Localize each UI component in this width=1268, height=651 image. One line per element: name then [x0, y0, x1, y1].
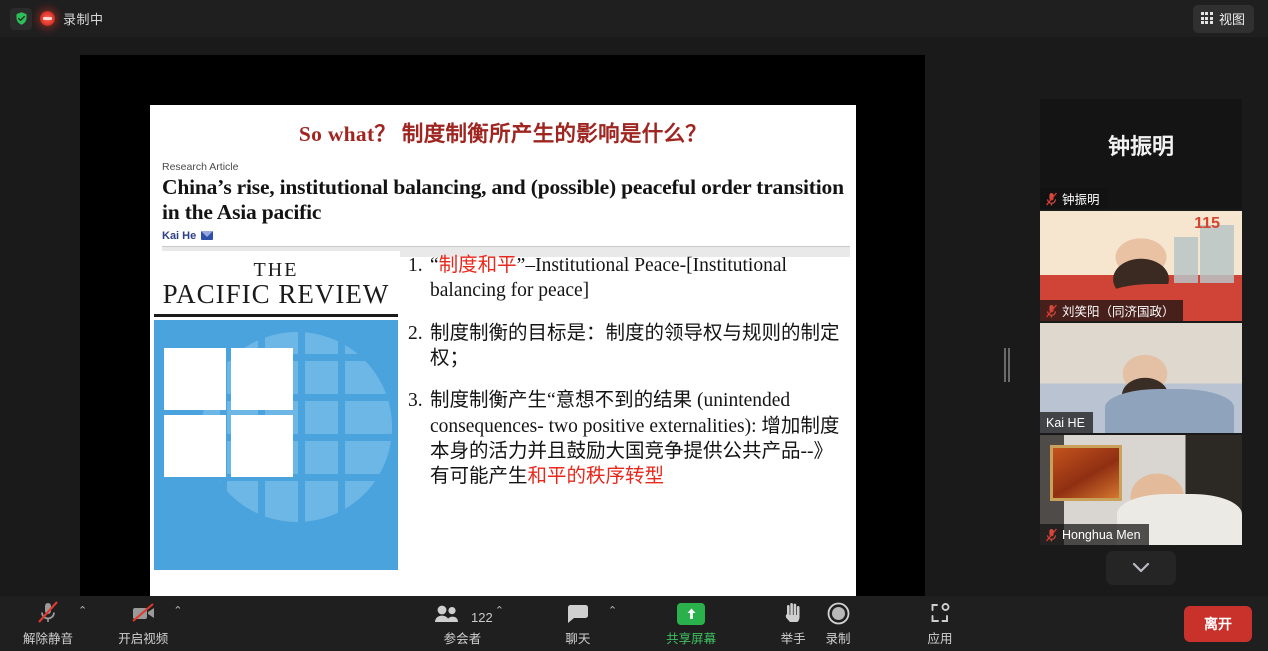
slide-bullet-number: 3. [408, 388, 430, 489]
participants-count: 122 [471, 610, 493, 625]
apps-icon [928, 601, 952, 625]
slide-bullet-segment: “ [430, 255, 439, 276]
meeting-toolbar: 解除静音 ⌃ 开启视频 ⌃ [0, 596, 1268, 651]
slide-bullet-segment: 制度和平 [439, 255, 517, 276]
participants-strip: 钟振明钟振明115刘笑阳（同济国政）Kai HEHonghua Men [1040, 99, 1242, 585]
start-video-button[interactable]: 开启视频 [115, 596, 171, 651]
start-video-label: 开启视频 [118, 628, 168, 647]
meeting-stage: So what？ 制度制衡所产生的影响是什么？ Research Article… [0, 37, 1268, 596]
record-label: 录制 [825, 628, 850, 647]
raise-hand-label: 举手 [781, 628, 806, 647]
map-panel-south-america [231, 415, 293, 477]
participant-torso [1105, 389, 1234, 433]
participants-icon: 122 [432, 601, 493, 625]
slide-bullet-segment: 制度制衡的目标是：制度的领导权与规则的制定权； [430, 323, 840, 369]
map-panel-north-america [231, 348, 293, 410]
participant-tile[interactable]: 钟振明钟振明 [1040, 99, 1242, 209]
recording-label: 录制中 [63, 9, 104, 28]
video-off-icon [129, 601, 157, 625]
article-title: China’s rise, institutional balancing, a… [162, 175, 850, 226]
participants-chevron-up-icon[interactable]: ⌃ [495, 604, 504, 617]
toolbar-right-group: 录制 应用 [810, 596, 968, 651]
chat-bubble-icon [565, 601, 591, 625]
virtual-background-number: 115 [1194, 215, 1220, 233]
microphone-muted-icon [1046, 192, 1057, 206]
chat-label: 聊天 [565, 628, 590, 647]
chat-control[interactable]: 聊天 ⌃ [550, 596, 617, 651]
world-map-panels [164, 348, 293, 477]
chat-chevron-up-icon[interactable]: ⌃ [608, 604, 617, 617]
slide-bullet-text: “制度和平”–Institutional Peace-[Institutiona… [430, 253, 848, 304]
recording-status: 录制中 [0, 8, 104, 30]
participant-name-bar: 刘笑阳（同济国政） [1040, 300, 1183, 321]
slide-bullet-text: 制度制衡产生“意想不到的结果 (unintended consequences-… [430, 388, 848, 489]
raise-hand-icon [781, 601, 805, 625]
participant-name-label: Honghua Men [1062, 528, 1141, 542]
wall-painting [1050, 445, 1122, 501]
journal-header: Research Article China’s rise, instituti… [162, 161, 850, 257]
map-panel-oceania [164, 415, 226, 477]
participants-control[interactable]: 122 参会者 ⌃ [432, 596, 504, 651]
microphone-muted-icon [35, 601, 61, 625]
envelope-icon [201, 231, 213, 240]
map-panel-east-asia [164, 348, 226, 410]
slide-bullet-segment: 和平的秩序转型 [528, 466, 665, 487]
journal-cover-image: THE PACIFIC REVIEW [152, 251, 400, 571]
recording-dot-icon [40, 11, 55, 26]
slide-bullet: 2.制度制衡的目标是：制度的领导权与规则的制定权； [408, 321, 848, 372]
participant-name-placeholder: 钟振明 [1040, 129, 1242, 161]
leave-meeting-button[interactable]: 离开 [1184, 606, 1252, 642]
journal-masthead: THE PACIFIC REVIEW [152, 251, 400, 310]
share-screen-icon [677, 601, 705, 625]
slide-bullet-number: 1. [408, 253, 430, 304]
panel-resize-handle[interactable] [1003, 347, 1011, 383]
participant-tile[interactable]: Kai HE [1040, 323, 1242, 433]
virtual-background-building [1174, 237, 1198, 283]
slide-bullet-text: 制度制衡的目标是：制度的领导权与规则的制定权； [430, 321, 848, 372]
unmute-label: 解除静音 [23, 628, 73, 647]
participants-label: 参会者 [444, 628, 482, 647]
participant-name-label: 钟振明 [1062, 189, 1100, 208]
toolbar-center-group: 122 参会者 ⌃ 聊天 ⌃ [432, 596, 821, 651]
journal-cover-divider [154, 314, 398, 317]
unmute-button[interactable]: 解除静音 [20, 596, 76, 651]
participants-button[interactable]: 122 参会者 [432, 596, 493, 651]
presentation-slide: So what？ 制度制衡所产生的影响是什么？ Research Article… [150, 105, 856, 637]
participant-tile[interactable]: 115刘笑阳（同济国政） [1040, 211, 1242, 321]
chat-button[interactable]: 聊天 [550, 596, 606, 651]
apps-button[interactable]: 应用 [912, 596, 968, 651]
participant-name-label: Kai HE [1046, 416, 1085, 430]
author-name: Kai He [162, 230, 196, 242]
view-button[interactable]: 视图 [1193, 5, 1254, 33]
unmute-chevron-up-icon[interactable]: ⌃ [78, 604, 87, 617]
journal-cover-artwork [154, 320, 398, 570]
share-screen-button[interactable]: 共享屏幕 [663, 596, 719, 651]
participant-tile[interactable]: Honghua Men [1040, 435, 1242, 545]
record-button[interactable]: 录制 [810, 596, 866, 651]
article-author: Kai He [162, 230, 850, 242]
video-control[interactable]: 开启视频 ⌃ [115, 596, 182, 651]
slide-bullet: 1.“制度和平”–Institutional Peace-[Institutio… [408, 253, 848, 304]
participant-name-label: 刘笑阳（同济国政） [1062, 301, 1175, 320]
slide-bullet-list: 1.“制度和平”–Institutional Peace-[Institutio… [408, 253, 848, 507]
slide-bullet-number: 2. [408, 321, 430, 372]
participant-name-bar: Kai HE [1040, 412, 1093, 433]
article-type-label: Research Article [162, 161, 850, 173]
slide-title: So what？ 制度制衡所产生的影响是什么？ [150, 117, 856, 148]
video-chevron-up-icon[interactable]: ⌃ [173, 604, 182, 617]
shield-check-icon[interactable] [10, 8, 32, 30]
virtual-background-building [1200, 225, 1234, 283]
microphone-muted-icon [1046, 304, 1057, 318]
shared-screen-area[interactable]: So what？ 制度制衡所产生的影响是什么？ Research Article… [80, 55, 925, 596]
participant-name-bar: 钟振明 [1040, 188, 1108, 209]
participant-name-bar: Honghua Men [1040, 524, 1149, 545]
record-circle-icon [827, 601, 850, 625]
apps-label: 应用 [927, 628, 952, 647]
unmute-control[interactable]: 解除静音 ⌃ [20, 596, 87, 651]
grid-view-icon [1201, 12, 1213, 24]
share-screen-label: 共享屏幕 [666, 628, 716, 647]
toolbar-left-group: 解除静音 ⌃ 开启视频 ⌃ [0, 596, 182, 651]
microphone-muted-icon [1046, 528, 1057, 542]
chevron-down-icon[interactable] [1106, 551, 1176, 585]
journal-masthead-line2: PACIFIC REVIEW [152, 279, 400, 310]
view-button-label: 视图 [1219, 9, 1245, 28]
top-bar: 录制中 视图 [0, 0, 1268, 37]
slide-bullet: 3.制度制衡产生“意想不到的结果 (unintended consequence… [408, 388, 848, 489]
